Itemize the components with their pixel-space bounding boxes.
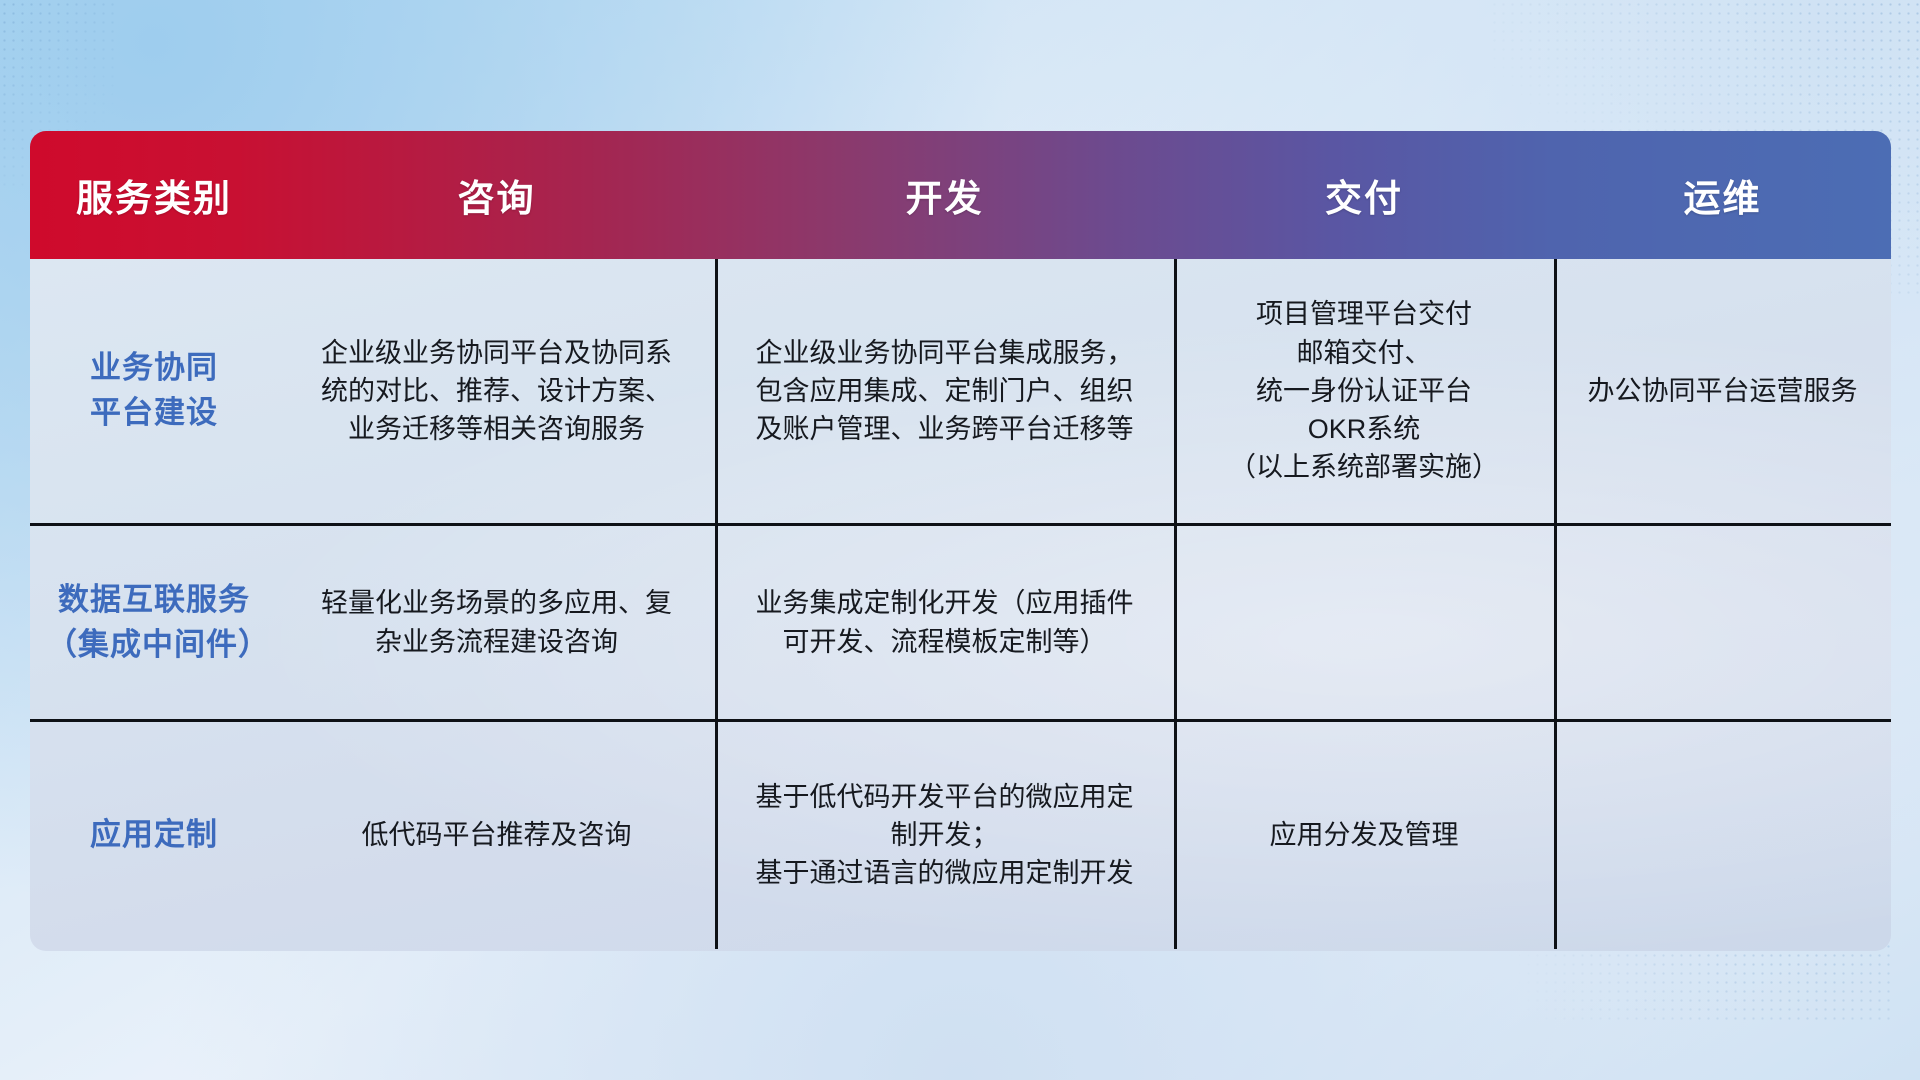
row-category-label: 业务协同 平台建设 xyxy=(30,259,278,523)
row-category-label: 应用定制 xyxy=(30,722,278,948)
cell-development: 企业级业务协同平台集成服务， 包含应用集成、定制门户、组织 及账户管理、业务跨平… xyxy=(715,259,1174,523)
cell-consulting: 企业级业务协同平台及协同系 统的对比、推荐、设计方案、 业务迁移等相关咨询服务 xyxy=(278,259,715,523)
cell-operations: 办公协同平台运营服务 xyxy=(1554,259,1891,523)
cell-delivery: 应用分发及管理 xyxy=(1174,722,1554,948)
cell-delivery xyxy=(1174,526,1554,719)
column-header-consulting: 咨询 xyxy=(278,131,715,259)
cell-operations xyxy=(1554,722,1891,948)
cell-delivery: 项目管理平台交付 邮箱交付、 统一身份认证平台 OKR系统 （以上系统部署实施） xyxy=(1174,259,1554,523)
table-body: 业务协同 平台建设 企业级业务协同平台及协同系 统的对比、推荐、设计方案、 业务… xyxy=(30,259,1891,951)
column-header-development: 开发 xyxy=(715,131,1174,259)
cell-consulting: 轻量化业务场景的多应用、复 杂业务流程建设咨询 xyxy=(278,526,715,719)
table-row: 数据互联服务 （集成中间件） 轻量化业务场景的多应用、复 杂业务流程建设咨询 业… xyxy=(30,523,1891,719)
cell-consulting: 低代码平台推荐及咨询 xyxy=(278,722,715,948)
table-row: 应用定制 低代码平台推荐及咨询 基于低代码开发平台的微应用定 制开发； 基于通过… xyxy=(30,719,1891,948)
cell-development: 基于低代码开发平台的微应用定 制开发； 基于通过语言的微应用定制开发 xyxy=(715,722,1174,948)
column-header-delivery: 交付 xyxy=(1174,131,1554,259)
service-matrix-table: 服务类别 咨询 开发 交付 运维 业务协同 平台建设 企业级业务协同平台及协同系… xyxy=(30,131,1891,951)
row-category-label: 数据互联服务 （集成中间件） xyxy=(30,526,278,719)
table-header-row: 服务类别 咨询 开发 交付 运维 xyxy=(30,131,1891,259)
table-row: 业务协同 平台建设 企业级业务协同平台及协同系 统的对比、推荐、设计方案、 业务… xyxy=(30,259,1891,523)
cell-operations xyxy=(1554,526,1891,719)
slide-page: 服务类别 咨询 开发 交付 运维 业务协同 平台建设 企业级业务协同平台及协同系… xyxy=(0,0,1920,1080)
column-header-operations: 运维 xyxy=(1554,131,1891,259)
column-header-category: 服务类别 xyxy=(30,131,278,259)
cell-development: 业务集成定制化开发（应用插件 可开发、流程模板定制等） xyxy=(715,526,1174,719)
